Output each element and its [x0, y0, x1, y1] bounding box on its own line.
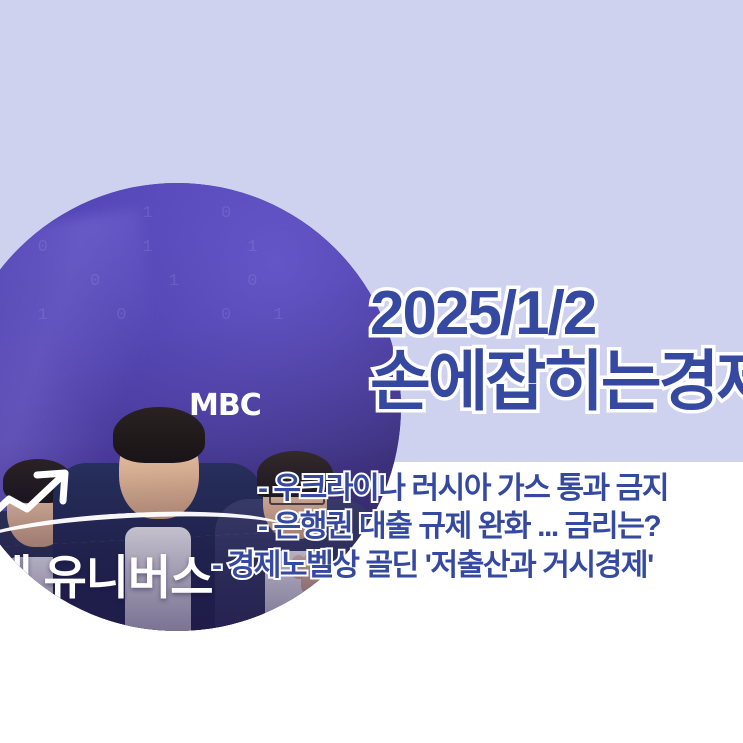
headline-item-1: - 우크라이나 러시아 가스 통과 금지: [258, 470, 743, 508]
broadcast-date: 2025/1/2: [370, 284, 743, 345]
headline-item-3: - 경제노벨상 골딘 '저출산과 거시경제': [212, 547, 743, 585]
mbc-logo: MBC: [189, 391, 261, 421]
thumbnail-card: 1 0 1 0 0 1 1 1 0 1 0 1 0 0 1: [0, 0, 743, 743]
program-title: 손에잡히는경제: [370, 349, 743, 414]
headline-list: - 우크라이나 러시아 가스 통과 금지 - 은행권 대출 규제 완화 ... …: [258, 470, 743, 585]
title-block: 2025/1/2 손에잡히는경제: [370, 284, 743, 413]
headline-item-2: - 은행권 대출 규제 완화 ... 금리는?: [258, 508, 743, 546]
